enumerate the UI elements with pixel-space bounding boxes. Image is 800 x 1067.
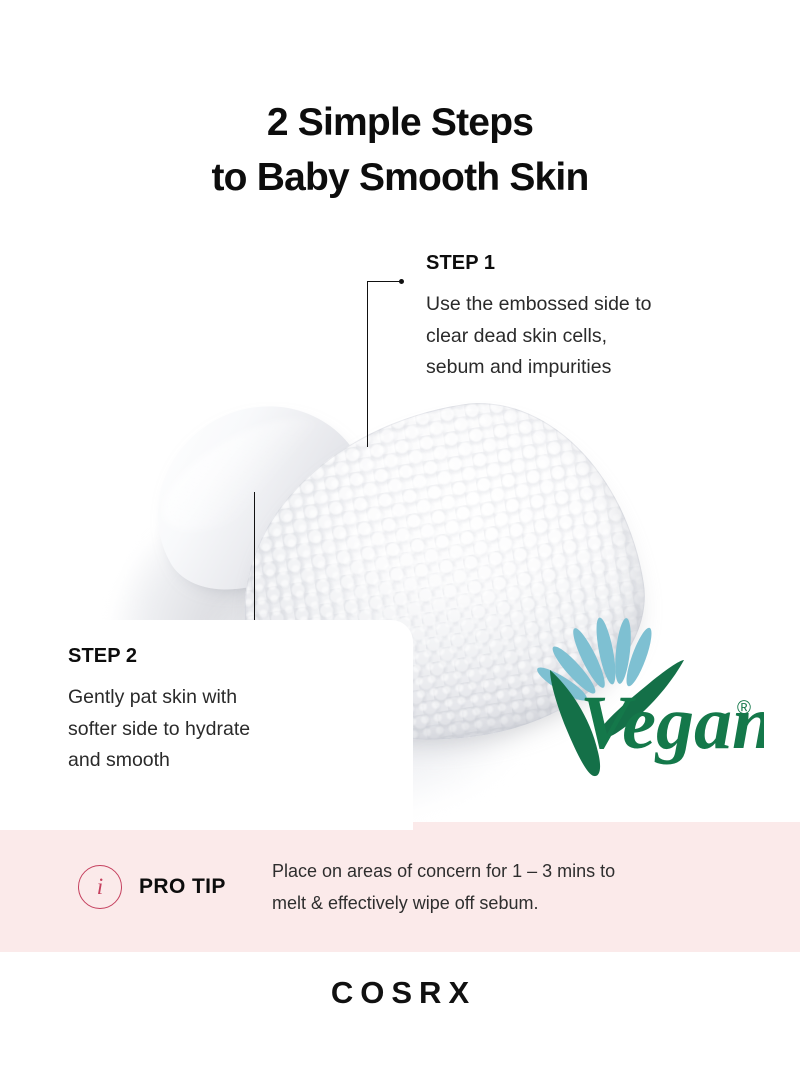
step-2-body-line-3: and smooth	[68, 745, 368, 777]
page-title: 2 Simple Steps to Baby Smooth Skin	[0, 95, 800, 206]
step-2-title: STEP 2	[68, 645, 368, 668]
step-1-leader-line-vertical	[367, 281, 368, 447]
pro-tip-label-group: i PRO TIP	[78, 865, 264, 909]
pro-tip-body-line-2: melt & effectively wipe off sebum.	[272, 887, 615, 919]
step-2-body-line-2: softer side to hydrate	[68, 714, 368, 746]
vegan-wordmark: Vegan	[580, 681, 764, 765]
step-1-body: Use the embossed side to clear dead skin…	[426, 289, 756, 384]
step-1-body-line-2: clear dead skin cells,	[426, 321, 756, 353]
step-1-body-line-1: Use the embossed side to	[426, 289, 756, 321]
step-2-body-line-1: Gently pat skin with	[68, 682, 368, 714]
headline-line-2: to Baby Smooth Skin	[0, 150, 800, 205]
pro-tip-label: PRO TIP	[139, 875, 226, 899]
pro-tip-body-line-1: Place on areas of concern for 1 – 3 mins…	[272, 855, 615, 887]
info-icon: i	[78, 865, 122, 909]
info-icon-glyph: i	[97, 875, 103, 898]
step-1-leader-line-horizontal	[367, 281, 402, 282]
step-1-leader-dot	[399, 279, 404, 284]
pro-tip-banner: i PRO TIP Place on areas of concern for …	[0, 822, 800, 952]
vegan-badge: Vegan ®	[532, 612, 764, 792]
step-1-title: STEP 1	[426, 252, 756, 275]
step-2-block: STEP 2 Gently pat skin with softer side …	[68, 645, 368, 777]
step-2-body: Gently pat skin with softer side to hydr…	[68, 682, 368, 777]
infographic-page: 2 Simple Steps to Baby Smooth Skin STEP …	[0, 0, 800, 1067]
vegan-registered-mark: ®	[737, 698, 751, 719]
step-1-block: STEP 1 Use the embossed side to clear de…	[426, 252, 756, 384]
brand-logo: COSRX	[0, 975, 800, 1011]
pro-tip-body: Place on areas of concern for 1 – 3 mins…	[272, 855, 615, 919]
headline-line-1: 2 Simple Steps	[0, 95, 800, 150]
step-1-body-line-3: sebum and impurities	[426, 352, 756, 384]
